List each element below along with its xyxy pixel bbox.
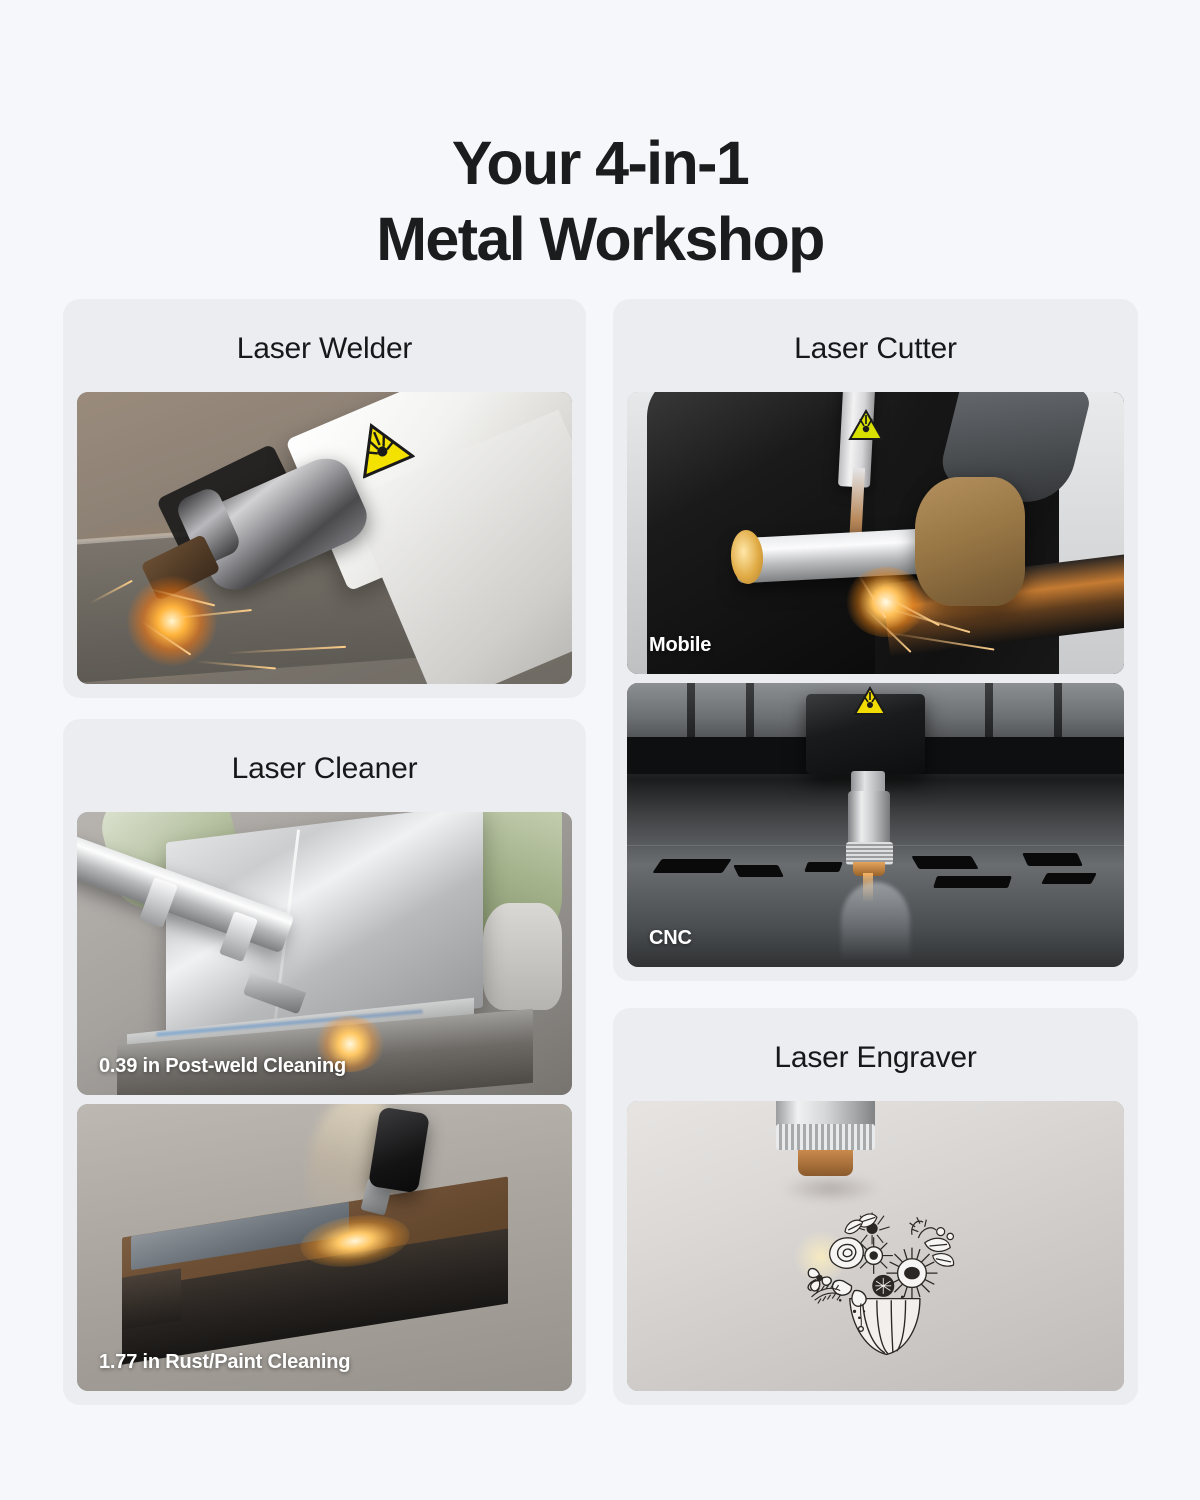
caption-rust-paint-cleaning: 1.77 in Rust/Paint Cleaning bbox=[99, 1351, 350, 1374]
engraved-bouquet-artwork bbox=[726, 1179, 1034, 1370]
page-title-line-2: Metal Workshop bbox=[0, 201, 1200, 277]
marketing-page: Your 4-in-1 Metal Workshop Laser Welder bbox=[0, 0, 1200, 1500]
caption-mobile: Mobile bbox=[649, 634, 711, 657]
image-cnc-laser-cutting: CNC bbox=[627, 683, 1124, 967]
image-post-weld-cleaning: 0.39 in Post-weld Cleaning bbox=[77, 812, 572, 1095]
image-mobile-laser-cutting: Mobile bbox=[627, 392, 1124, 674]
laser-warning-icon bbox=[853, 686, 887, 716]
page-title: Your 4-in-1 Metal Workshop bbox=[0, 125, 1200, 277]
card-laser-welder[interactable]: Laser Welder bbox=[63, 299, 586, 698]
image-rust-paint-cleaning: 1.77 in Rust/Paint Cleaning bbox=[77, 1104, 572, 1391]
card-laser-welder-title: Laser Welder bbox=[63, 332, 586, 366]
card-laser-cutter-title: Laser Cutter bbox=[613, 332, 1138, 366]
feature-grid: Laser Welder bbox=[63, 299, 1138, 1405]
image-laser-engraving-flowers bbox=[627, 1101, 1124, 1391]
card-laser-engraver[interactable]: Laser Engraver bbox=[613, 1008, 1138, 1405]
laser-warning-icon bbox=[848, 409, 884, 441]
card-laser-cutter[interactable]: Laser Cutter bbox=[613, 299, 1138, 981]
card-laser-cleaner-title: Laser Cleaner bbox=[63, 752, 586, 786]
page-title-line-1: Your 4-in-1 bbox=[452, 129, 748, 197]
caption-cnc: CNC bbox=[649, 927, 692, 950]
caption-post-weld-cleaning: 0.39 in Post-weld Cleaning bbox=[99, 1055, 346, 1078]
card-laser-engraver-title: Laser Engraver bbox=[613, 1041, 1138, 1075]
card-laser-cleaner[interactable]: Laser Cleaner bbox=[63, 719, 586, 1405]
image-laser-welding bbox=[77, 392, 572, 684]
